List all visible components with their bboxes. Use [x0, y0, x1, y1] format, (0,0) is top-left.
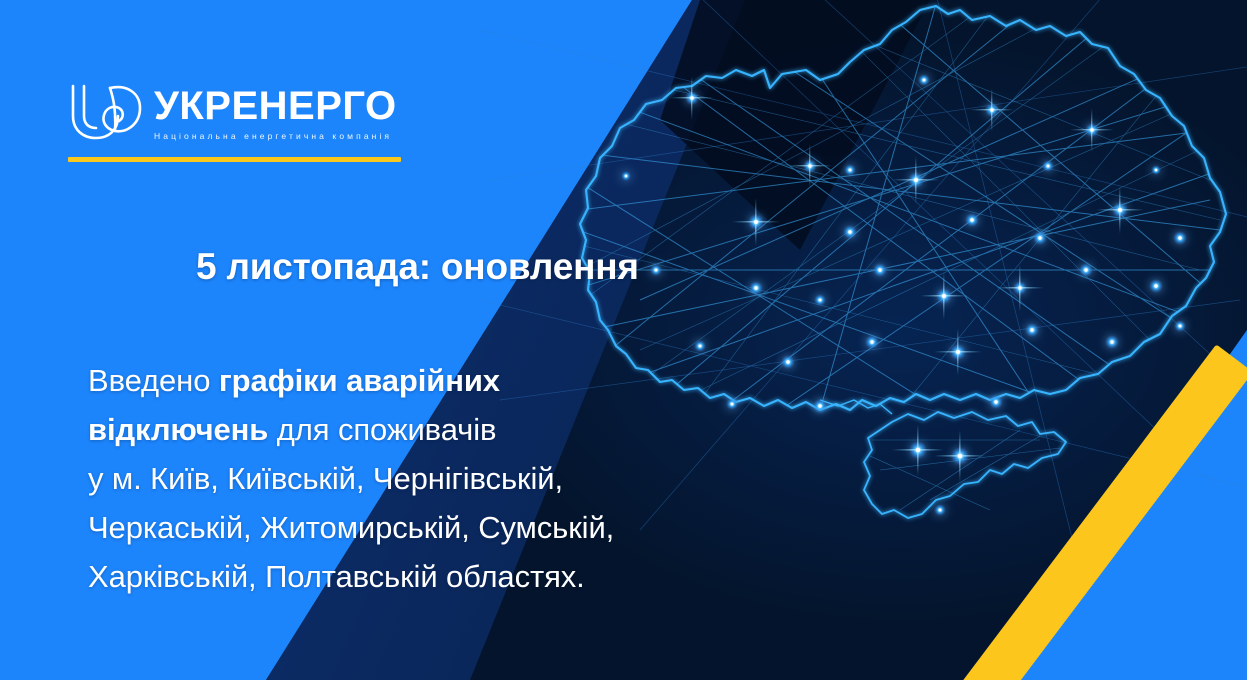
body-line-2: відключень для споживачів [88, 405, 614, 454]
body-line-2-plain: для споживачів [268, 412, 496, 447]
brand-logo: УКРЕНЕРГО Національна енергетична компан… [66, 78, 411, 162]
brand-tagline: Національна енергетична компанія [154, 131, 392, 141]
body-line-1-bold: графіки аварійних [219, 363, 500, 398]
body-line-1: Введено графіки аварійних [88, 356, 614, 405]
ukrenergo-u-leaf-icon [66, 78, 144, 146]
body-line-3: у м. Київ, Київській, Чернігівській, [88, 454, 614, 503]
brand-underline-rule [68, 157, 401, 162]
page-title: 5 листопада: оновлення [196, 246, 639, 288]
body-line-4: Черкаській, Житомирській, Сумській, [88, 503, 614, 552]
body-line-2-bold: відключень [88, 412, 268, 447]
announcement-body: Введено графіки аварійних відключень для… [88, 356, 614, 601]
announcement-card: УКРЕНЕРГО Національна енергетична компан… [0, 0, 1247, 680]
body-line-1-plain: Введено [88, 363, 219, 398]
brand-wordmark: УКРЕНЕРГО [154, 84, 397, 128]
body-line-5: Харківській, Полтавській областях. [88, 552, 614, 601]
